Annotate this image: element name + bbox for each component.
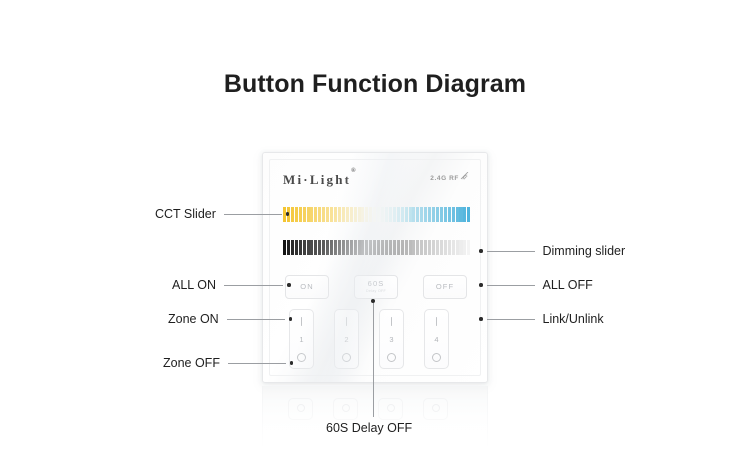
zone-button-3[interactable]: 3 [379,309,404,369]
cct-slider-segment[interactable] [456,207,459,222]
dimming-slider-segment[interactable] [334,240,337,255]
cct-slider-segment[interactable] [350,207,353,222]
callout-dimming-slider: Dimming slider [479,244,625,258]
leader-dot [479,283,483,287]
delay-off-60s-button-label: 60S [368,280,385,288]
dimming-slider-segment[interactable] [350,240,353,255]
registered-trademark-icon: ® [351,168,355,174]
cct-slider-segment[interactable] [358,207,361,222]
panel-reflection-zone-1 [288,398,313,420]
dimming-slider-segment[interactable] [381,240,384,255]
cct-slider[interactable] [283,207,471,222]
dimming-slider-segment[interactable] [342,240,345,255]
callout-zone-off: Zone OFF [163,356,293,370]
zone-button-2[interactable]: 2 [334,309,359,369]
dimming-slider-segment[interactable] [338,240,341,255]
zone-number-label: 1 [299,336,303,344]
callout-all-off: ALL OFF [479,278,593,292]
zone-off-icon-reflection [432,404,440,412]
cct-slider-segment[interactable] [385,207,388,222]
dimming-slider-segment[interactable] [444,240,447,255]
cct-slider-segment[interactable] [389,207,392,222]
cct-slider-segment[interactable] [338,207,341,222]
callout-label-zone-off: Zone OFF [163,356,220,370]
dimming-slider-segment[interactable] [436,240,439,255]
dimming-slider-segment[interactable] [397,240,400,255]
leader-line [487,319,535,320]
cct-slider-segment[interactable] [307,207,310,222]
leader-line [487,251,535,252]
dimming-slider-segment[interactable] [291,240,294,255]
zone-off-icon[interactable] [387,353,396,362]
cct-slider-segment[interactable] [401,207,404,222]
dimming-slider-segment[interactable] [326,240,329,255]
dimming-slider-segment[interactable] [428,240,431,255]
wifi-signal-icon [460,172,469,182]
dimming-slider-segment[interactable] [361,240,364,255]
cct-slider-segment[interactable] [373,207,376,222]
panel-reflection-zone-3 [378,398,403,420]
dimming-slider-segment[interactable] [303,240,306,255]
dimming-slider-segment[interactable] [412,240,415,255]
zone-on-icon[interactable] [346,317,347,326]
dimming-slider-segment[interactable] [409,240,412,255]
zone-off-icon-reflection [342,404,350,412]
cct-slider-segment[interactable] [322,207,325,222]
dimming-slider-segment[interactable] [385,240,388,255]
rf-badge: 2.4G RF [430,175,469,185]
cct-slider-segment[interactable] [299,207,302,222]
cct-slider-segment[interactable] [436,207,439,222]
dimming-slider-segment[interactable] [401,240,404,255]
all-on-button-label: ON [300,283,313,291]
cct-slider-segment[interactable] [416,207,419,222]
callout-label-all-on: ALL ON [172,278,216,292]
cct-slider-segment[interactable] [342,207,345,222]
cct-slider-segment[interactable] [405,207,408,222]
dimming-slider-segment[interactable] [448,240,451,255]
leader-line [487,285,535,286]
dimming-slider-segment[interactable] [307,240,310,255]
cct-slider-segment[interactable] [361,207,364,222]
cct-slider-segment[interactable] [452,207,455,222]
cct-slider-segment[interactable] [291,207,294,222]
leader-dot [287,283,291,287]
leader-line [228,363,286,364]
cct-slider-segment[interactable] [346,207,349,222]
zone-on-icon[interactable] [391,317,392,326]
dimming-slider-segment[interactable] [314,240,317,255]
panel-reflection-zone-2 [333,398,358,420]
delay-off-60s-button[interactable]: 60S Delay OFF [354,275,398,299]
zone-on-icon[interactable] [301,317,302,326]
dimming-slider-segment[interactable] [322,240,325,255]
cct-slider-segment[interactable] [310,207,313,222]
cct-slider-segment[interactable] [424,207,427,222]
callout-all-on: ALL ON [172,278,291,292]
cct-slider-segment[interactable] [428,207,431,222]
dimming-slider-segment[interactable] [346,240,349,255]
dimming-slider-segment[interactable] [310,240,313,255]
zone-off-icon-reflection [297,404,305,412]
cct-slider-segment[interactable] [467,207,470,222]
zone-button-4[interactable]: 4 [424,309,449,369]
leader-dot [479,317,483,321]
cct-slider-segment[interactable] [440,207,443,222]
all-on-button[interactable]: ON [285,275,329,299]
dimming-slider-segment[interactable] [295,240,298,255]
callout-zone-on: Zone ON [168,312,292,326]
cct-slider-segment[interactable] [354,207,357,222]
cct-slider-segment[interactable] [448,207,451,222]
cct-slider-segment[interactable] [303,207,306,222]
cct-slider-segment[interactable] [397,207,400,222]
dimming-slider-segment[interactable] [393,240,396,255]
cct-slider-segment[interactable] [318,207,321,222]
dimming-slider-segment[interactable] [318,240,321,255]
cct-slider-segment[interactable] [365,207,368,222]
zone-on-icon[interactable] [436,317,437,326]
dimming-slider-segment[interactable] [369,240,372,255]
dimming-slider-segment[interactable] [330,240,333,255]
panel-reflection-zone-4 [423,398,448,420]
dimming-slider-segment[interactable] [456,240,459,255]
dimming-slider-segment[interactable] [452,240,455,255]
callout-label-dimming-slider: Dimming slider [543,244,626,258]
cct-slider-segment[interactable] [420,207,423,222]
zone-off-icon[interactable] [297,353,306,362]
dimming-slider-segment[interactable] [416,240,419,255]
cct-slider-segment[interactable] [326,207,329,222]
cct-slider-segment[interactable] [412,207,415,222]
cct-slider-segment[interactable] [432,207,435,222]
zone-number-label: 3 [389,336,393,344]
cct-slider-segment[interactable] [409,207,412,222]
dimming-slider-segment[interactable] [354,240,357,255]
cct-slider-segment[interactable] [377,207,380,222]
dimming-slider-segment[interactable] [405,240,408,255]
cct-slider-segment[interactable] [459,207,462,222]
cct-slider-segment[interactable] [444,207,447,222]
zone-off-icon[interactable] [432,353,441,362]
callout-label-zone-on: Zone ON [168,312,219,326]
cct-slider-segment[interactable] [330,207,333,222]
cct-slider-segment[interactable] [463,207,466,222]
dimming-slider-segment[interactable] [377,240,380,255]
dimming-slider[interactable] [283,240,471,255]
dimming-slider-segment[interactable] [420,240,423,255]
all-off-button-label: OFF [436,283,454,291]
zone-number-label: 2 [344,336,348,344]
callout-cct-slider: CCT Slider [155,207,289,221]
leader-line [224,285,283,286]
callout-label-all-off: ALL OFF [543,278,593,292]
page-title: Button Function Diagram [0,70,750,99]
panel-brand-row: Mi·Light® 2.4G RF [283,172,469,188]
all-off-button[interactable]: OFF [423,275,467,299]
zone-off-icon[interactable] [342,353,351,362]
leader-line [224,214,282,215]
leader-dot [479,249,483,253]
dimming-slider-segment[interactable] [283,240,286,255]
leader-line [227,319,285,320]
dimming-slider-segment[interactable] [373,240,376,255]
dimming-slider-segment[interactable] [389,240,392,255]
leader-dot [289,317,293,321]
cct-slider-segment[interactable] [295,207,298,222]
leader-line [373,303,374,417]
dimming-slider-segment[interactable] [287,240,290,255]
cct-slider-segment[interactable] [314,207,317,222]
zone-number-label: 4 [434,336,438,344]
callout-link-unlink: Link/Unlink [479,312,604,326]
dimming-slider-segment[interactable] [365,240,368,255]
zone-off-icon-reflection [387,404,395,412]
dimming-slider-segment[interactable] [463,240,466,255]
leader-dot [286,212,290,216]
cct-slider-segment[interactable] [393,207,396,222]
callout-label-link-unlink: Link/Unlink [543,312,604,326]
cct-slider-segment[interactable] [334,207,337,222]
brand-logo: Mi·Light® [283,172,356,188]
dimming-slider-segment[interactable] [467,240,470,255]
cct-slider-segment[interactable] [369,207,372,222]
light-control-panel: Mi·Light® 2.4G RF ON 60S Delay OFF OFF 1… [262,152,488,383]
rf-badge-text: 2.4G RF [430,175,459,182]
cct-slider-segment[interactable] [381,207,384,222]
callout-label-60s-delay-off: 60S Delay OFF [326,421,412,435]
dimming-slider-segment[interactable] [432,240,435,255]
dimming-slider-segment[interactable] [459,240,462,255]
callout-label-cct-slider: CCT Slider [155,207,216,221]
dimming-slider-segment[interactable] [424,240,427,255]
brand-logo-text: Mi·Light [283,172,351,187]
dimming-slider-segment[interactable] [440,240,443,255]
leader-dot [290,361,294,365]
dimming-slider-segment[interactable] [299,240,302,255]
delay-off-60s-button-sublabel: Delay OFF [366,290,386,294]
dimming-slider-segment[interactable] [358,240,361,255]
